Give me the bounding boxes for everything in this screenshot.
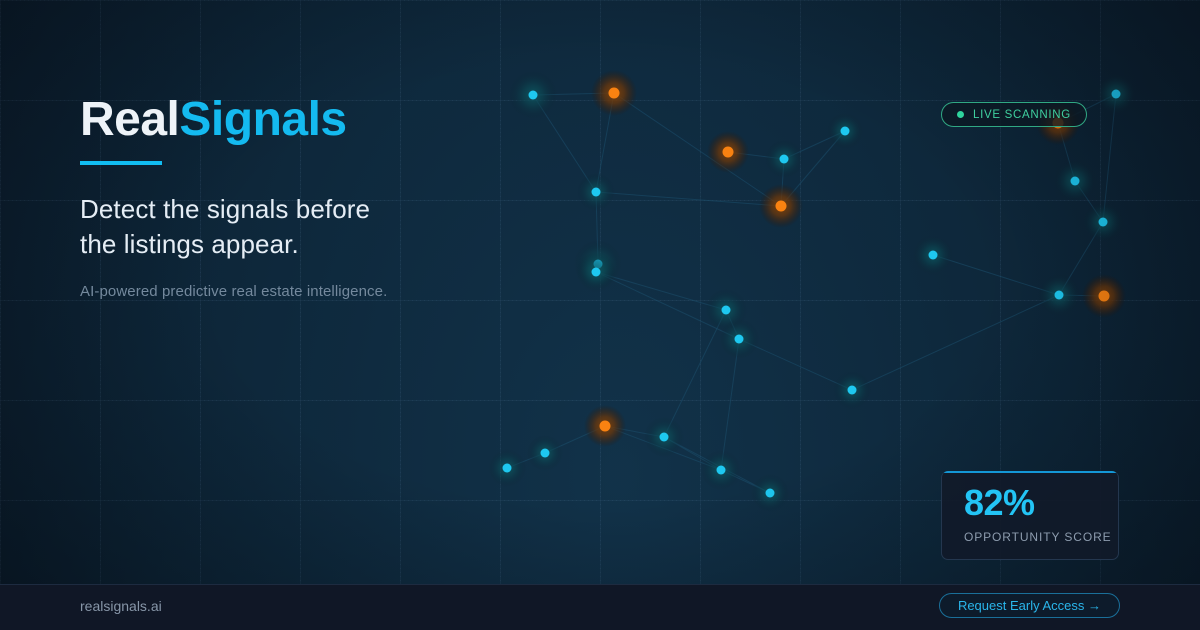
brand-name-primary: Real [80, 93, 179, 146]
network-node-cyan[interactable] [751, 474, 789, 512]
node-core [848, 386, 857, 395]
network-node-orange[interactable] [759, 184, 803, 228]
opportunity-score-value: 82% [964, 485, 1118, 521]
node-core [1071, 177, 1080, 186]
live-scanning-label: LIVE SCANNING [973, 109, 1071, 121]
live-scanning-badge: LIVE SCANNING [941, 102, 1087, 127]
node-core [776, 201, 787, 212]
node-core [503, 464, 512, 473]
brand-name-accent: Signals [179, 93, 346, 146]
network-node-cyan[interactable] [1038, 274, 1080, 316]
node-core [735, 335, 744, 344]
network-node-orange[interactable] [584, 405, 626, 447]
network-node-cyan[interactable] [509, 71, 557, 119]
node-core [609, 88, 620, 99]
footer-bar: realsignals.ai Request Early Access → [0, 584, 1200, 630]
node-core [1099, 291, 1110, 302]
node-core [660, 433, 669, 442]
network-node-cyan[interactable] [833, 371, 871, 409]
brand-logo: RealSignals [80, 96, 510, 144]
network-edge [664, 310, 726, 437]
footer-domain-text: realsignals.ai [80, 598, 162, 614]
hero-headline: Detect the signals before the listings a… [80, 192, 510, 261]
network-edge [596, 192, 781, 206]
network-node-orange[interactable] [591, 70, 637, 116]
hero-headline-line-1: Detect the signals before [80, 194, 370, 224]
node-core [841, 127, 850, 136]
network-node-cyan[interactable] [488, 449, 526, 487]
opportunity-score-label: OPPORTUNITY SCORE [964, 530, 1118, 544]
network-node-orange[interactable] [707, 131, 749, 173]
node-core [780, 155, 789, 164]
promo-banner: RealSignals Detect the signals before th… [0, 0, 1200, 630]
node-core [541, 449, 550, 458]
network-nodes [488, 70, 1136, 512]
node-core [592, 188, 601, 197]
network-edge [614, 93, 781, 206]
hero-subline: AI-powered predictive real estate intell… [80, 283, 510, 300]
node-core [929, 251, 938, 260]
live-status-dot-icon [957, 111, 964, 118]
network-node-cyan[interactable] [1096, 74, 1136, 114]
network-node-orange[interactable] [1082, 274, 1126, 318]
network-node-cyan[interactable] [765, 140, 803, 178]
hero-headline-line-2: the listings appear. [80, 229, 299, 259]
node-core [766, 489, 775, 498]
node-core [592, 268, 601, 277]
network-node-cyan[interactable] [576, 252, 616, 292]
node-core [1055, 291, 1064, 300]
node-core [723, 147, 734, 158]
network-node-cyan[interactable] [827, 113, 863, 149]
network-node-cyan[interactable] [527, 435, 563, 471]
node-core [717, 466, 726, 475]
node-core [1112, 90, 1121, 99]
node-core [722, 306, 731, 315]
network-node-cyan[interactable] [913, 235, 953, 275]
opportunity-score-card: 82% OPPORTUNITY SCORE [941, 471, 1119, 560]
network-node-cyan[interactable] [644, 417, 684, 457]
network-node-cyan[interactable] [1054, 160, 1096, 202]
network-node-cyan[interactable] [1083, 202, 1123, 242]
network-node-cyan[interactable] [701, 450, 741, 490]
request-early-access-button[interactable]: Request Early Access → [939, 593, 1120, 618]
network-edge [852, 295, 1059, 390]
network-node-cyan[interactable] [719, 319, 759, 359]
node-core [1099, 218, 1108, 227]
hero-block: RealSignals Detect the signals before th… [80, 96, 510, 300]
node-core [600, 421, 611, 432]
network-node-cyan[interactable] [577, 173, 615, 211]
node-core [529, 91, 538, 100]
accent-underline [80, 161, 162, 165]
